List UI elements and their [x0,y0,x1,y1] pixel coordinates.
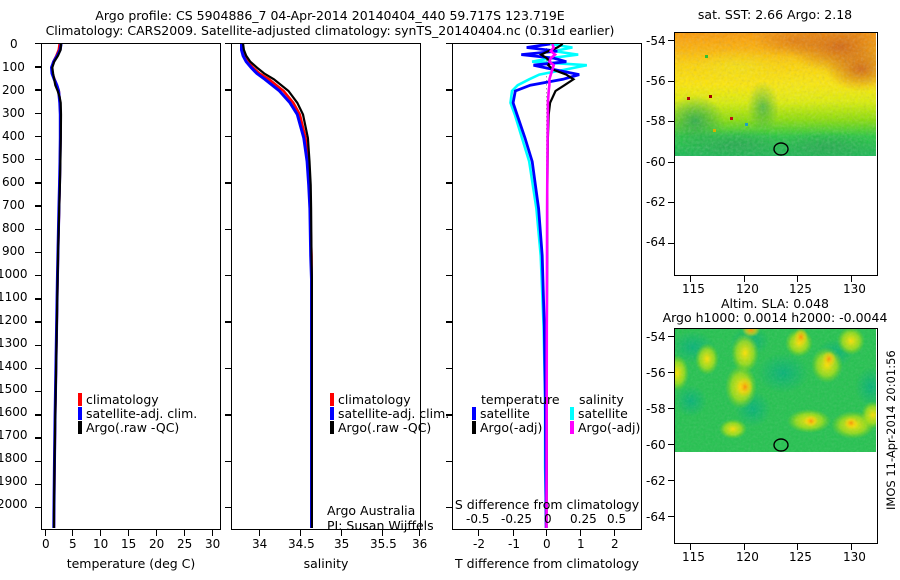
ytick-label: -58 [646,402,666,416]
sst-map-title-text: sat. SST: 2.66 Argo: 2.18 [698,7,852,22]
ytick-label: -62 [646,474,666,488]
difference-legend-temperature: temperature satellite Argo(-adj) [472,393,560,434]
sla-map-plot-area[interactable] [674,328,878,544]
ytick-label: 900 [2,244,25,258]
difference-x-axis-label-bottom: T difference from climatology [452,556,642,571]
ytick-label: -64 [646,235,666,249]
title-line2-text: Climatology: CARS2009. Satellite-adjuste… [46,23,615,38]
xtick-label: 0 [544,512,552,526]
difference-legend-salinity: salinity satellite Argo(-adj) [570,393,640,434]
xtick-label: 10 [93,537,108,551]
legend-item: satellite-adj. clim. [78,406,197,420]
ytick-label: 700 [2,198,25,212]
legend-item: satellite [570,406,640,420]
ytick-label: 500 [2,152,25,166]
imos-timestamp-text: IMOS 11-Apr-2014 20:01:56 [884,350,898,510]
salinity-legend: climatology satellite-adj. clim. Argo(.r… [330,392,449,434]
legend-item: Argo(-adj) [570,420,640,434]
ytick-label: -54 [646,330,666,344]
legend-title-salinity: salinity [570,393,640,406]
xtick-label: -2 [473,537,485,551]
sla-map-title-line2-text: Argo h1000: 0.0014 h2000: -0.0044 [663,310,888,325]
xtick-label: -0.5 [466,512,489,526]
ytick-label: 1900 [0,474,28,488]
legend-swatch-argo-raw [330,421,334,434]
temperature-x-axis-label: temperature (deg C) [41,556,221,571]
ytick-label: 0 [10,37,18,51]
legend-label: climatology [338,393,411,406]
legend-label: Argo(.raw -QC) [86,421,179,434]
sst-map-svg [675,33,876,274]
xtick-label: 120 [736,282,759,296]
temperature-series-satellite-adj [52,44,62,528]
legend-swatch-salinity-satellite [570,407,574,420]
xtick-label: 0.5 [607,512,626,526]
ytick-label: -54 [646,34,666,48]
ytick-label: -60 [646,438,666,452]
xtick-label: 120 [736,550,759,564]
xtick-label: 15 [121,537,136,551]
ytick-label: 1800 [0,451,28,465]
ytick-label: -58 [646,114,666,128]
xtick-label: -1 [508,537,520,551]
ytick-label: -60 [646,155,666,169]
legend-title-temperature: temperature [472,393,560,406]
imos-timestamp: IMOS 11-Apr-2014 20:01:56 [884,350,898,510]
legend-item: Argo(.raw -QC) [78,420,197,434]
legend-swatch-temperature-argo [472,421,476,434]
difference-profile-svg [453,44,640,528]
sst-map-plot-area[interactable] [674,32,878,276]
ytick-label: 300 [2,106,25,120]
sla-map-title-line1: Altim. SLA: 0.048 [672,297,878,311]
salinity-x-axis-label-text: salinity [304,556,349,571]
xtick-label: 0.25 [570,512,597,526]
ytick-label: 1400 [0,359,28,373]
ytick-label: -56 [646,366,666,380]
xtick-label: 25 [177,537,192,551]
ytick-label: -64 [646,510,666,524]
legend-label: Argo(-adj) [480,421,542,434]
xtick-label: 130 [843,550,866,564]
ytick-label: 400 [2,129,25,143]
ytick-label: 1100 [0,290,28,304]
page-title-line2: Climatology: CARS2009. Satellite-adjuste… [0,23,660,38]
xtick-label: 5 [69,537,77,551]
xtick-label: -0.25 [501,512,532,526]
legend-swatch-climatology [78,393,82,406]
temperature-profile-svg [42,44,219,528]
ytick-label: 200 [2,83,25,97]
legend-swatch-climatology [330,393,334,406]
legend-label: climatology [86,393,159,406]
legend-label: Argo(.raw -QC) [338,421,431,434]
xtick-label: 130 [843,282,866,296]
legend-swatch-satellite-adj [78,407,82,420]
argo-credit-line1: Argo Australia [327,503,434,518]
xtick-label: 35.5 [370,537,397,551]
legend-item: climatology [330,392,449,406]
legend-item: Argo(-adj) [472,420,560,434]
ytick-label: 1000 [0,267,28,281]
legend-item: satellite-adj. clim. [330,406,449,420]
xtick-label: 125 [789,550,812,564]
xtick-label: 0 [42,537,50,551]
xtick-label: 115 [682,550,705,564]
xtick-label: 0 [543,537,551,551]
sla-map-title-line1-text: Altim. SLA: 0.048 [721,296,829,311]
legend-swatch-satellite-adj [330,407,334,420]
legend-label: satellite [480,407,530,420]
ytick-label: 1500 [0,382,28,396]
xtick-label: 115 [682,282,705,296]
legend-label: satellite-adj. clim. [338,407,449,420]
ytick-label: 800 [2,221,25,235]
salinity-profile-svg [232,44,419,528]
sla-map-title-line2: Argo h1000: 0.0014 h2000: -0.0044 [656,311,894,325]
ytick-label: -56 [646,74,666,88]
difference-series-salinity-argo [547,44,556,528]
sla-map-svg [675,329,876,542]
ytick-label: 2000 [0,497,28,511]
legend-item: Argo(.raw -QC) [330,420,449,434]
ytick-label: 600 [2,175,25,189]
temperature-x-axis-label-text: temperature (deg C) [67,556,196,571]
xtick-label: 36 [412,537,427,551]
temperature-plot-area[interactable] [41,43,221,530]
difference-plot-area[interactable] [452,43,642,530]
legend-item: climatology [78,392,197,406]
legend-item: satellite [472,406,560,420]
ytick-label: 1200 [0,313,28,327]
ytick-label: 1600 [0,405,28,419]
difference-x-axis-label-top: S difference from climatology [452,497,642,512]
xtick-label: 125 [789,282,812,296]
ytick-label: 1300 [0,336,28,350]
xtick-label: 35 [334,537,349,551]
xtick-label: 34.5 [288,537,315,551]
difference-x-axis-label-top-text: S difference from climatology [455,497,639,512]
argo-credit: Argo Australia PI: Susan Wijffels [327,503,434,533]
legend-label: satellite-adj. clim. [86,407,197,420]
legend-swatch-argo-raw [78,421,82,434]
title-line1-text: Argo profile: CS 5904886_7 04-Apr-2014 2… [95,8,564,23]
xtick-label: 20 [149,537,164,551]
difference-x-axis-label-bottom-text: T difference from climatology [455,556,639,571]
sst-map-title: sat. SST: 2.66 Argo: 2.18 [672,8,878,22]
temperature-legend: climatology satellite-adj. clim. Argo(.r… [78,392,197,434]
salinity-series-climatology [242,44,311,528]
legend-swatch-salinity-argo [570,421,574,434]
legend-label: Argo(-adj) [578,421,640,434]
salinity-plot-area[interactable] [231,43,421,530]
page-title-line1: Argo profile: CS 5904886_7 04-Apr-2014 2… [0,8,660,23]
xtick-label: 30 [205,537,220,551]
ytick-label: 100 [2,60,25,74]
xtick-label: 2 [611,537,619,551]
salinity-x-axis-label: salinity [231,556,421,571]
argo-credit-line2: PI: Susan Wijffels [327,518,434,533]
ytick-label: -62 [646,195,666,209]
xtick-label: 34 [252,537,267,551]
legend-label: satellite [578,407,628,420]
xtick-label: 1 [577,537,585,551]
ytick-label: 1700 [0,428,28,442]
legend-swatch-temperature-satellite [472,407,476,420]
